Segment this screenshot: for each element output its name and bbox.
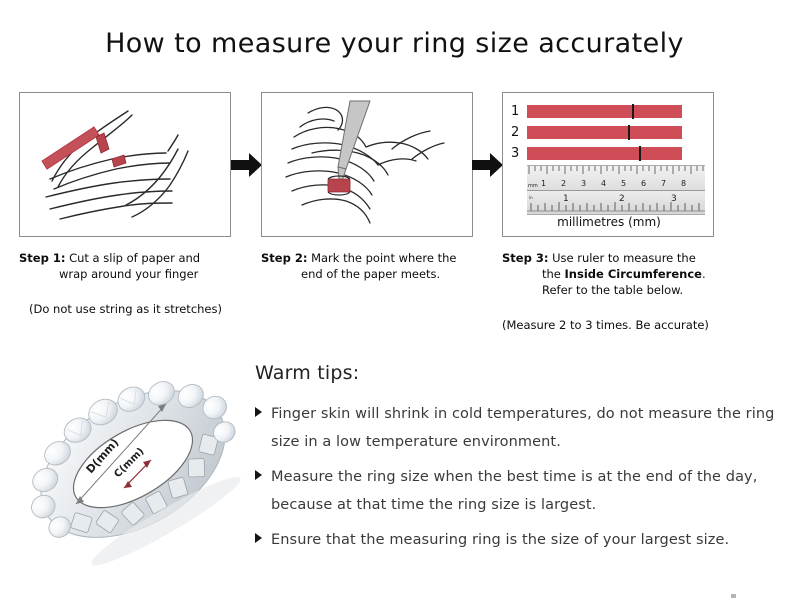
step-1-panel	[19, 92, 231, 237]
step-1-line1: Cut a slip of paper and	[69, 251, 200, 265]
steps-row: Step 1: Cut a slip of paper and wrap aro…	[0, 92, 789, 342]
step-3-line2: the Inside Circumference.	[502, 266, 714, 282]
svg-text:7: 7	[661, 179, 666, 188]
step-2-panel	[261, 92, 473, 237]
tip-text-3: Ensure that the measuring ring is the si…	[271, 526, 729, 554]
tip-item-1: Finger skin will shrink in cold temperat…	[255, 400, 775, 456]
step-1-column: Step 1: Cut a slip of paper and wrap aro…	[19, 92, 231, 317]
tip-text-2: Measure the ring size when the best time…	[271, 463, 775, 519]
step-2-line1: Mark the point where the	[311, 251, 456, 265]
tip-text-1: Finger skin will shrink in cold temperat…	[271, 400, 775, 456]
ruler-unit-label: millimetres (mm)	[503, 215, 714, 229]
strip-row-3: 3	[511, 144, 707, 162]
strip-number-1: 1	[511, 105, 527, 118]
svg-text:mm: mm	[528, 183, 538, 189]
warm-tips-section: Warm tips: Finger skin will shrink in co…	[255, 362, 775, 561]
svg-text:8: 8	[681, 179, 686, 188]
strip-row-1: 1	[511, 102, 707, 120]
arrow-right-icon-2	[472, 150, 504, 180]
hand-marking-paper-illustration	[262, 93, 472, 236]
triangle-right-bullet-icon-1	[255, 407, 262, 417]
warm-tips-heading: Warm tips:	[255, 362, 775, 384]
strip-mark-3	[639, 146, 641, 161]
step-3-column: 1 2 3	[502, 92, 714, 333]
step-1-caption: Step 1: Cut a slip of paper and wrap aro…	[19, 250, 231, 282]
step-3-line2-prefix: the	[542, 267, 565, 281]
svg-text:6: 6	[641, 179, 646, 188]
step-2-line2: end of the paper meets.	[261, 266, 473, 282]
step-2-caption: Step 2: Mark the point where the end of …	[261, 250, 473, 282]
svg-text:5: 5	[621, 179, 626, 188]
strip-mark-1	[632, 104, 634, 119]
hand-with-paper-slip-illustration	[20, 93, 230, 236]
strip-bar-1	[527, 105, 682, 118]
strip-number-2: 2	[511, 126, 527, 139]
strip-number-3: 3	[511, 147, 527, 160]
tip-item-3: Ensure that the measuring ring is the si…	[255, 526, 775, 554]
svg-text:2: 2	[561, 179, 566, 188]
step-1-label: Step 1:	[19, 251, 65, 265]
step-1-line2: wrap around your finger	[19, 266, 231, 282]
corner-artifact	[731, 594, 736, 598]
arrow-right-icon-1	[231, 150, 263, 180]
svg-text:1: 1	[541, 179, 546, 188]
step-1-note: (Do not use string as it stretches)	[19, 302, 231, 317]
svg-text:in: in	[529, 195, 533, 200]
page-title: How to measure your ring size accurately	[0, 28, 789, 59]
tip-item-2: Measure the ring size when the best time…	[255, 463, 775, 519]
step-2-column: Step 2: Mark the point where the end of …	[261, 92, 473, 302]
step-3-label: Step 3:	[502, 251, 548, 265]
svg-text:3: 3	[581, 179, 586, 188]
ring-diagram: D(mm) C(mm)	[18, 352, 248, 577]
step-3-note: (Measure 2 to 3 times. Be accurate)	[502, 318, 714, 333]
measured-strips-group: 1 2 3	[511, 102, 707, 165]
strip-mark-2	[628, 125, 630, 140]
step-3-line2-tail: .	[702, 267, 706, 281]
svg-text:1: 1	[563, 194, 569, 204]
ruler-bottom-scale: in 123	[527, 190, 705, 214]
ruler-top-scale: mm 12 34 56 78	[527, 166, 705, 190]
step-3-panel: 1 2 3	[502, 92, 714, 237]
step-3-caption: Step 3: Use ruler to measure the the Ins…	[502, 250, 714, 298]
strip-bar-3	[527, 147, 682, 160]
step-3-line1: Use ruler to measure the	[552, 251, 696, 265]
strip-row-2: 2	[511, 123, 707, 141]
step-3-inside-circumference: Inside Circumference	[565, 267, 702, 281]
svg-text:4: 4	[601, 179, 606, 188]
step-3-line3: Refer to the table below.	[502, 282, 714, 298]
step-2-label: Step 2:	[261, 251, 307, 265]
triangle-right-bullet-icon-3	[255, 533, 262, 543]
svg-text:3: 3	[671, 194, 677, 204]
strip-bar-2	[527, 126, 682, 139]
triangle-right-bullet-icon-2	[255, 470, 262, 480]
ruler-illustration: mm 12 34 56 78 in 123	[527, 165, 705, 215]
svg-text:2: 2	[619, 194, 625, 204]
